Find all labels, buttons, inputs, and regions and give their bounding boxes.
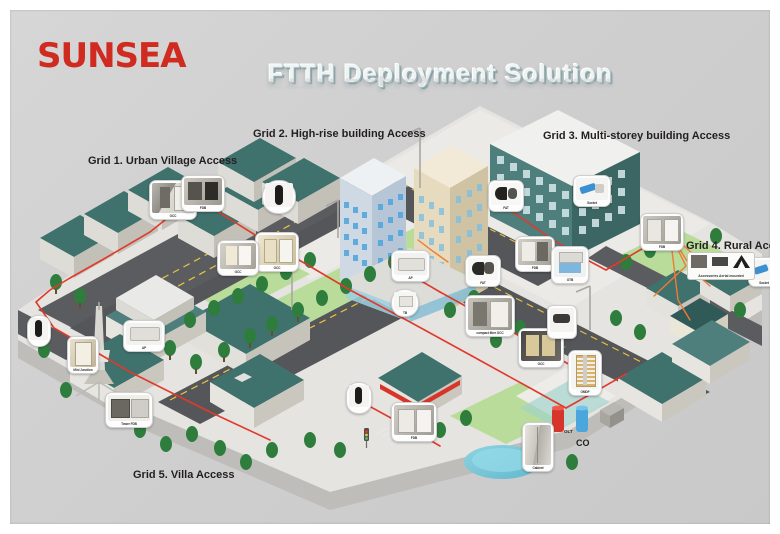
accessories-legend-caption: Accessories Aerial mounted [688, 275, 754, 278]
callout-label: FAT [489, 207, 523, 210]
callout-otb-multistorey[interactable]: OTB [551, 246, 589, 284]
sunsea-logo: SUNSEA [37, 36, 186, 76]
device-image-fat-closure [468, 258, 498, 280]
device-image-fdb [643, 216, 681, 244]
device-image-otb [554, 249, 586, 277]
callout-label: compact fiber OCC [466, 332, 514, 335]
callout-label: Socket [749, 282, 770, 285]
device-image-ap [394, 253, 427, 275]
callout-label: FDB [182, 207, 224, 210]
callout-label: FDB [516, 267, 554, 270]
device-image-compact-occ [468, 298, 512, 330]
callout-closure-street[interactable] [346, 382, 372, 414]
callout-fdb-multistorey[interactable]: FDB [515, 236, 555, 272]
callout-label: Socket [574, 202, 610, 205]
site-label-olt: OLT [564, 429, 573, 434]
grid-label-multi-storey: Grid 3. Multi-storey building Access [543, 130, 730, 142]
callout-tower-fdb[interactable]: Tower FDB [105, 392, 153, 428]
callout-fat-highrise[interactable]: FAT [465, 255, 501, 287]
callout-splitter-pole[interactable] [262, 180, 296, 214]
diagram-panel: SUNSEA FTTH Deployment Solution FTTH Dep… [10, 10, 770, 524]
callout-socket-multistorey[interactable]: Socket [573, 175, 611, 207]
callout-label: OCC [519, 363, 563, 366]
device-image-mini-junction [70, 339, 96, 367]
callout-label: OCC [256, 267, 298, 270]
callout-ap-commercial[interactable]: AP [123, 320, 165, 352]
accessory-hook-icon [733, 255, 750, 268]
accessory-bracket-icon [712, 257, 728, 266]
site-label-co: CO [576, 438, 590, 448]
device-image-fdb [518, 239, 552, 265]
callout-label: OCC [150, 215, 196, 218]
device-image-tb [394, 292, 416, 310]
device-image-closure [30, 318, 48, 340]
callout-occ-street[interactable]: OCC [217, 240, 259, 276]
device-image-closure [265, 183, 293, 207]
callout-ap-highrise[interactable]: AP [391, 250, 430, 282]
callout-label: TB [392, 312, 418, 315]
callout-tb-highrise[interactable]: TB [391, 289, 419, 317]
callout-closure-left[interactable] [27, 315, 51, 347]
device-image-closure [349, 385, 369, 407]
callout-label: FDB [641, 246, 683, 249]
grid-label-rural: Grid 4. Rural Access [686, 240, 770, 252]
callout-label: OMDF [569, 391, 601, 394]
device-image-socket [576, 178, 608, 200]
callout-label: FAT [466, 282, 500, 285]
device-image-fdb [394, 405, 434, 435]
device-image-fat-closure [491, 183, 521, 205]
device-image-occ-cabinet [258, 235, 296, 265]
callout-mini-junction[interactable]: Mini Junction [67, 336, 99, 374]
callout-occ-compact[interactable]: compact fiber OCC [465, 295, 515, 337]
callout-label: AP [392, 277, 429, 280]
device-image-ap [126, 323, 162, 345]
device-image-occ-cabinet [220, 243, 256, 269]
callout-label: AP [124, 347, 164, 350]
page-title-reflection: FTTH Deployment Solution [268, 76, 613, 91]
callout-label: OTB [552, 279, 588, 282]
callout-fdb-village[interactable]: FDB [181, 175, 225, 212]
callout-label: OCC [218, 271, 258, 274]
callout-fat-multistorey[interactable]: FAT [488, 180, 524, 212]
accessories-legend[interactable]: Accessories Aerial mounted [687, 252, 755, 280]
grid-label-urban-village: Grid 1. Urban Village Access [88, 155, 237, 167]
callout-label: Cabinet [523, 467, 553, 470]
callout-label: FDB [392, 437, 436, 440]
callout-closure-right[interactable] [547, 305, 577, 339]
callout-label: Mini Junction [68, 369, 98, 372]
device-image-fdb [184, 178, 222, 205]
grid-label-villa: Grid 5. Villa Access [133, 469, 235, 481]
device-image-closure [550, 308, 574, 332]
callout-fdb-rural[interactable]: FDB [640, 213, 684, 251]
grid-label-high-rise: Grid 2. High-rise building Access [253, 128, 426, 140]
callout-occ-village-2[interactable]: OCC [255, 232, 299, 272]
callout-omdf[interactable]: OMDF [568, 350, 602, 396]
callout-label: Tower FDB [106, 423, 152, 426]
device-image-outdoor-cabinet [525, 425, 551, 465]
accessory-clamp-icon [691, 255, 707, 268]
device-image-omdf-rack [571, 353, 599, 389]
device-image-tower-fdb [108, 395, 150, 421]
callout-fdb-villa[interactable]: FDB [391, 402, 437, 442]
screenshot-root: SUNSEA FTTH Deployment Solution FTTH Dep… [0, 0, 780, 534]
callout-cabinet[interactable]: Cabinet [522, 422, 554, 472]
